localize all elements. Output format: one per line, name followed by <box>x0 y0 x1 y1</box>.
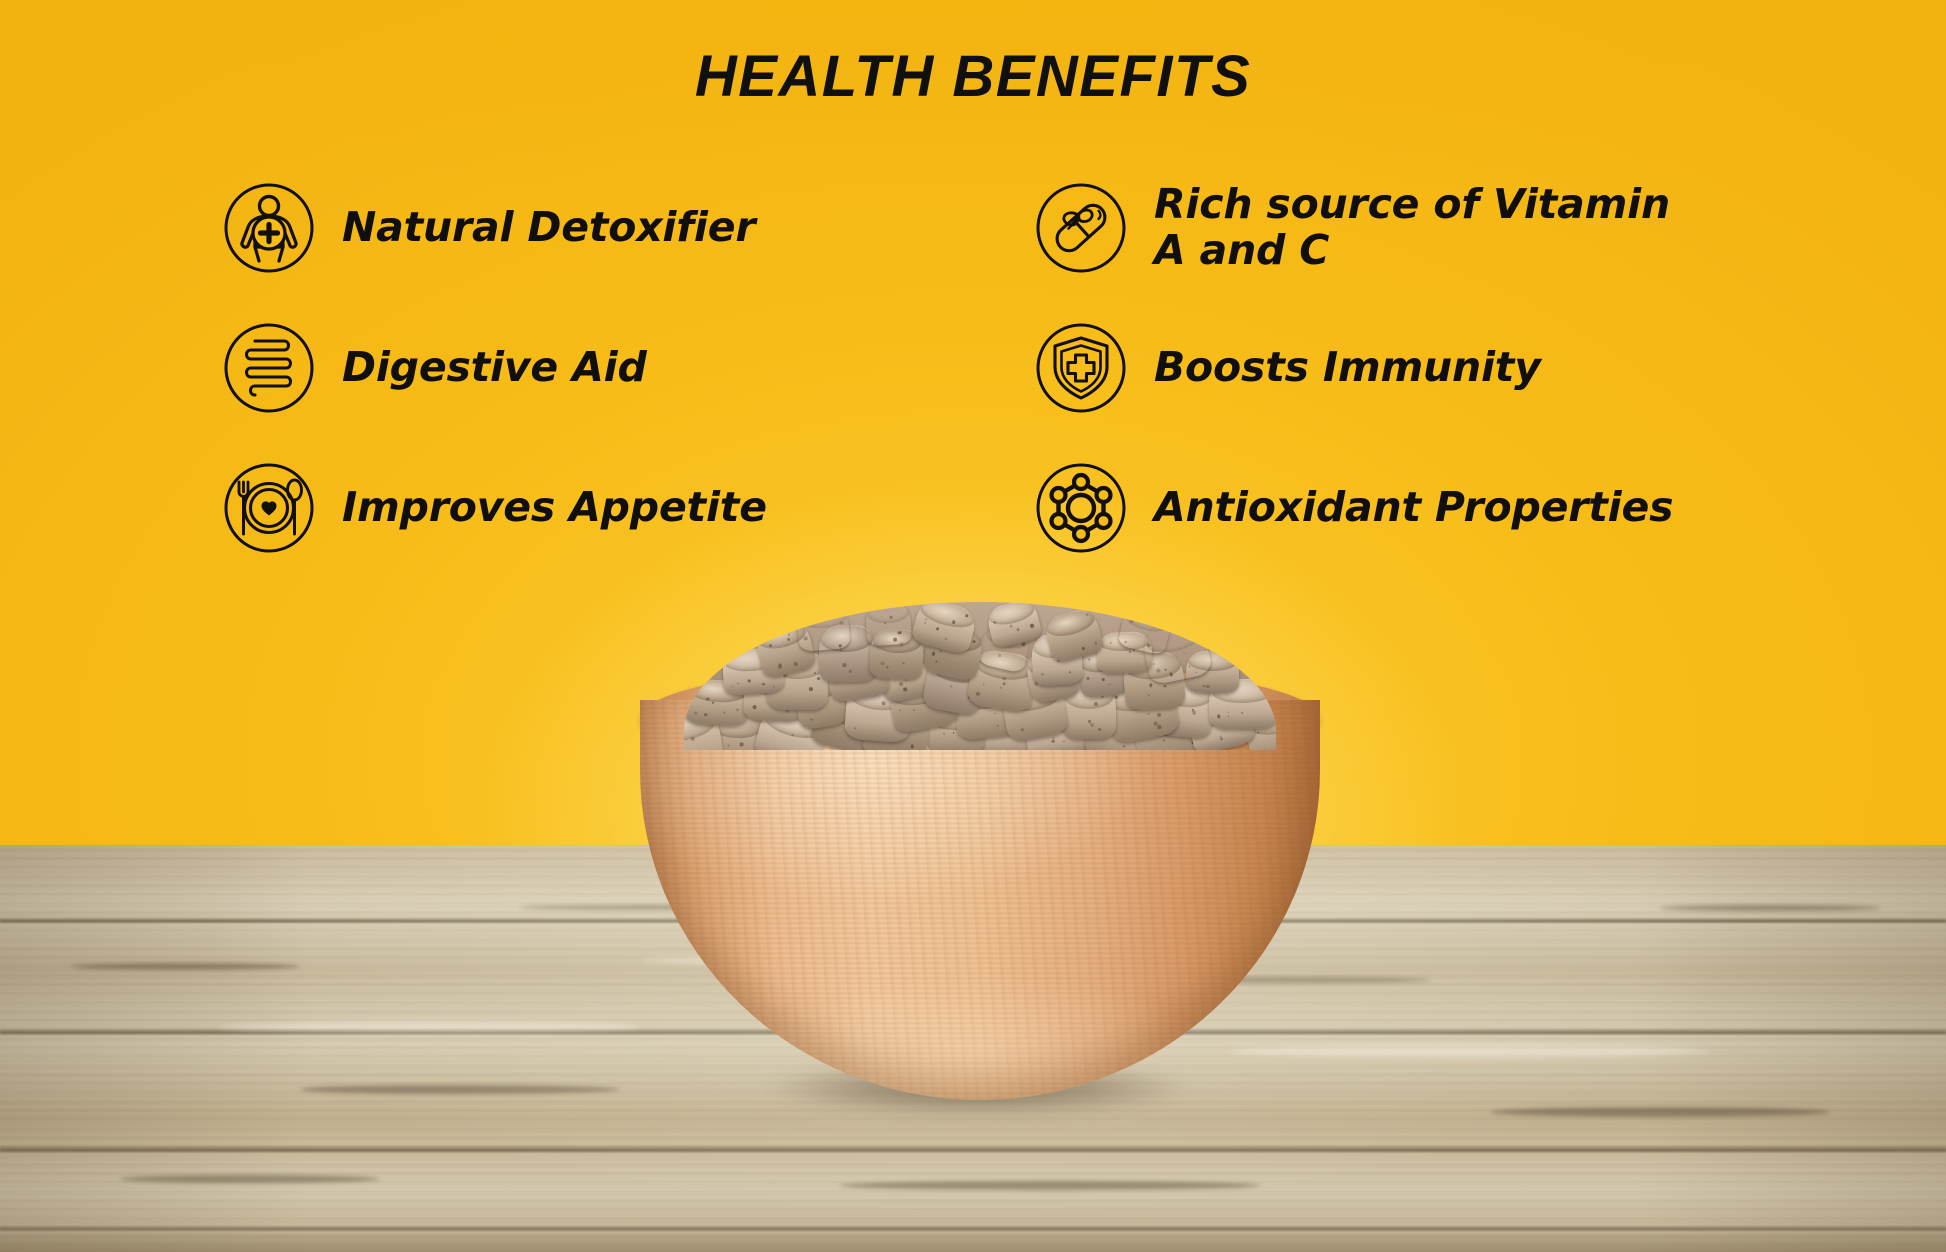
tablet-speckle <box>855 727 857 729</box>
tablet-speckle <box>1228 715 1230 717</box>
tablet-speckle <box>1129 652 1131 654</box>
benefit-label: Improves Appetite <box>342 485 767 531</box>
tablet-speckle <box>944 638 947 641</box>
tablet-speckle <box>748 680 751 683</box>
tablet-speckle <box>1228 711 1230 713</box>
benefits-right-column: Rich source of Vitamin A and C Boosts Im… <box>973 178 1946 558</box>
tablet-speckle <box>1133 650 1135 652</box>
tablet-speckle <box>1169 672 1174 677</box>
plate-cutlery-heart-icon <box>222 461 316 555</box>
tablet-speckle <box>976 692 980 696</box>
tablet-speckle <box>983 683 985 685</box>
tablet-speckle <box>690 737 694 741</box>
benefit-item-improves-appetite[interactable]: Improves Appetite <box>222 458 973 558</box>
tablet-speckle <box>1189 666 1191 668</box>
benefit-label: Rich source of Vitamin A and C <box>1154 182 1670 274</box>
tablet-speckle <box>817 677 820 680</box>
tablet-speckle <box>1153 721 1157 725</box>
tablet-speckle <box>1009 624 1013 628</box>
tablet-speckle <box>1053 740 1055 742</box>
tablet-speckle <box>740 742 744 746</box>
tablet-speckle <box>1154 662 1156 664</box>
tablet-speckle <box>1052 737 1055 740</box>
benefit-item-boosts-immunity[interactable]: Boosts Immunity <box>1034 318 1946 418</box>
tablet-speckle <box>762 683 764 685</box>
tablet-speckle <box>1087 677 1090 680</box>
tablet-speckle <box>902 688 907 693</box>
benefit-item-vitamin-source[interactable]: Rich source of Vitamin A and C <box>1034 178 1946 278</box>
benefit-item-natural-detoxifier[interactable]: Natural Detoxifier <box>222 178 973 278</box>
tablet-speckle <box>893 638 897 642</box>
tablet-speckle <box>950 685 953 688</box>
tablet-speckle <box>840 622 844 626</box>
tablet-speckle <box>1163 685 1166 688</box>
tablet-speckle <box>1000 687 1002 689</box>
tablet-speckle <box>736 682 738 684</box>
tablet-speckle <box>1241 712 1243 714</box>
molecule-icon <box>1034 461 1128 555</box>
tablet-speckle <box>1147 643 1152 648</box>
tablet-speckle <box>1102 678 1105 681</box>
page-title: HEALTH BENEFITS <box>0 48 1946 106</box>
tablet-speckle <box>953 732 955 734</box>
tablet-speckle <box>939 650 941 652</box>
benefit-label: Antioxidant Properties <box>1154 485 1673 531</box>
bowl-body <box>640 700 1320 1100</box>
tablet-speckle <box>1122 745 1126 749</box>
person-detox-icon <box>222 181 316 275</box>
tablet-speckle <box>1021 729 1024 732</box>
tablet-speckle <box>1003 682 1006 685</box>
herbal-tablet <box>865 602 913 647</box>
tablet-speckle <box>925 618 927 620</box>
tablet-speckle <box>1090 722 1094 726</box>
tablet-speckle <box>1202 686 1204 688</box>
benefit-label: Natural Detoxifier <box>342 205 755 251</box>
tablet-speckle <box>997 725 999 727</box>
tablet-speckle <box>913 709 915 711</box>
tablet-speckle <box>1094 642 1097 645</box>
tablet-speckle <box>1149 684 1152 687</box>
tablet-speckle <box>849 670 851 672</box>
tablet-speckle <box>1220 737 1224 741</box>
tablet-speckle <box>704 713 707 716</box>
benefit-label: Boosts Immunity <box>1154 345 1541 391</box>
tablet-speckle <box>809 687 813 691</box>
tablet-speckle <box>1206 685 1210 689</box>
tablet-speckle <box>1041 673 1044 676</box>
tablet-speckle <box>910 744 913 747</box>
tablet-speckle <box>936 627 940 631</box>
tablet-speckle <box>1163 739 1166 742</box>
tablet-speckle <box>1094 702 1098 706</box>
tablet-speckle <box>810 718 813 721</box>
tablet-top-face <box>919 602 977 632</box>
tablet-speckle <box>935 661 938 664</box>
tablet-speckle <box>1082 647 1085 650</box>
benefits-left-column: Natural Detoxifier Digestive Aid <box>0 178 973 558</box>
table-bottom-fade <box>0 1226 1946 1252</box>
tablet-speckle <box>997 654 1001 658</box>
tablet-speckle <box>736 709 739 712</box>
tablet-speckle <box>886 666 889 669</box>
tablet-speckle <box>728 744 730 746</box>
tablet-speckle <box>1165 668 1167 670</box>
tablet-speckle <box>969 714 971 716</box>
tablet-speckle <box>842 663 846 667</box>
tablet-speckle <box>1217 714 1221 718</box>
tablet-speckle <box>924 622 927 625</box>
tablet-speckle <box>1148 695 1150 697</box>
benefit-item-digestive-aid[interactable]: Digestive Aid <box>222 318 973 418</box>
herbal-tablet <box>797 605 851 652</box>
tablet-speckle <box>712 702 714 704</box>
tablet-top-face <box>867 602 910 624</box>
tablet-speckle <box>1099 727 1102 730</box>
tablet-speckle <box>804 636 808 640</box>
tablet-speckle <box>752 704 756 708</box>
tablet-speckle <box>1158 725 1162 729</box>
tablet-speckle <box>898 631 902 635</box>
tablet-mound <box>684 602 1276 750</box>
tablet-speckle <box>994 713 996 715</box>
health-benefits-poster: HEALTH BENEFITS Natura <box>0 0 1946 1252</box>
tablet-speckle <box>814 672 816 674</box>
tablet-speckle <box>1016 628 1019 631</box>
tablet-speckle <box>1030 624 1034 628</box>
tablet-speckle <box>899 709 901 711</box>
tablet-speckle <box>694 712 697 715</box>
tablet-speckle <box>1147 712 1150 715</box>
intestines-icon <box>222 321 316 415</box>
tablet-speckle <box>794 661 798 665</box>
tablet-speckle <box>1184 652 1186 654</box>
herbal-tablets-pile <box>684 600 1276 750</box>
tablet-speckle <box>943 732 945 734</box>
shield-cross-icon <box>1034 321 1128 415</box>
tablet-speckle <box>931 652 935 656</box>
tablet-speckle <box>731 686 733 688</box>
benefit-label: Digestive Aid <box>342 345 647 391</box>
tablet-speckle <box>723 712 725 714</box>
tablet-speckle <box>1157 712 1162 717</box>
benefit-item-antioxidant-properties[interactable]: Antioxidant Properties <box>1034 458 1946 558</box>
tablet-top-face <box>1044 608 1097 641</box>
capsule-leaf-icon <box>1034 181 1128 275</box>
tablet-speckle <box>899 682 904 687</box>
tablet-speckle <box>1062 740 1064 742</box>
tablet-speckle <box>1068 671 1071 674</box>
tablet-speckle <box>773 686 775 688</box>
tablet-speckle <box>1109 684 1111 686</box>
benefits-container: Natural Detoxifier Digestive Aid <box>0 178 1946 558</box>
tablet-speckle <box>903 663 905 665</box>
tablet-speckle <box>1089 720 1091 722</box>
tablet-speckle <box>881 661 885 665</box>
bowl-photo <box>640 600 1320 1145</box>
